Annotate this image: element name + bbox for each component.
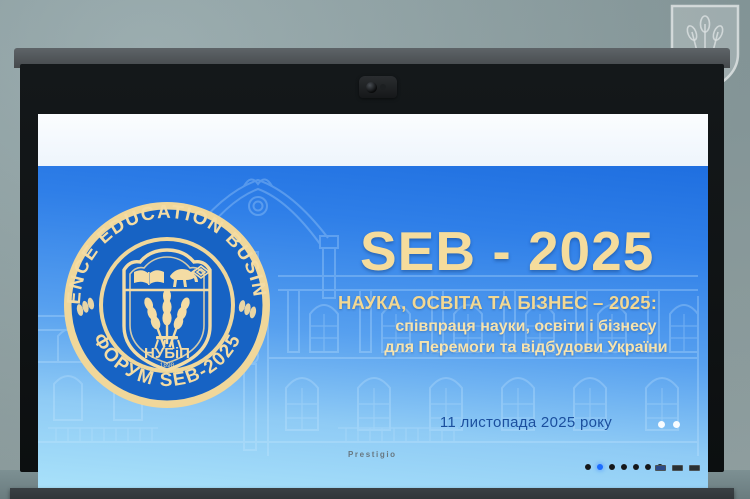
- interactive-display[interactable]: SCIENCE EDUCATION BUSINESS ФОРУМ SEB-202…: [14, 48, 730, 472]
- slide-subtitle-line-2: для Перемоги та відбудови України: [338, 339, 708, 357]
- display-screen[interactable]: SCIENCE EDUCATION BUSINESS ФОРУМ SEB-202…: [38, 114, 708, 490]
- status-indicator[interactable]: [597, 464, 603, 470]
- logitech-webcam-icon: [359, 76, 397, 98]
- control-button-3[interactable]: [609, 464, 615, 470]
- display-control-buttons[interactable]: [585, 464, 663, 470]
- hdmi-port[interactable]: [672, 465, 683, 471]
- slide-pagination-dots[interactable]: [658, 421, 680, 428]
- svg-text:1898: 1898: [160, 362, 175, 369]
- camera-lens-icon: [366, 82, 377, 93]
- power-button[interactable]: [585, 464, 591, 470]
- slide-heading: НАУКА, ОСВІТА ТА БІЗНЕС – 2025:: [338, 292, 708, 314]
- forum-seb-2025-emblem-icon: SCIENCE EDUCATION BUSINESS ФОРУМ SEB-202…: [60, 198, 274, 412]
- display-brand-logo: Prestigio: [348, 450, 397, 459]
- presentation-room-scene: НУБІП 1898: [0, 0, 750, 499]
- display-ports[interactable]: [655, 465, 700, 471]
- slide-date: 11 листопада 2025 року: [338, 414, 708, 431]
- usb-port[interactable]: [655, 465, 666, 471]
- presentation-slide[interactable]: SCIENCE EDUCATION BUSINESS ФОРУМ SEB-202…: [38, 114, 708, 490]
- control-button-6[interactable]: [645, 464, 651, 470]
- pagination-dot[interactable]: [673, 421, 680, 428]
- slide-subtitle-line-1: співпраця науки, освіти і бізнесу: [338, 318, 708, 336]
- control-button-5[interactable]: [633, 464, 639, 470]
- svg-text:НУБіП: НУБіП: [144, 345, 190, 362]
- camera-mic-icon: [380, 84, 386, 90]
- pagination-dot[interactable]: [658, 421, 665, 428]
- slide-title: SEB - 2025: [360, 224, 708, 279]
- hdmi-port-2[interactable]: [689, 465, 700, 471]
- control-button-4[interactable]: [621, 464, 627, 470]
- slide-top-band: [38, 114, 708, 166]
- display-bottom-bezel: [10, 488, 734, 499]
